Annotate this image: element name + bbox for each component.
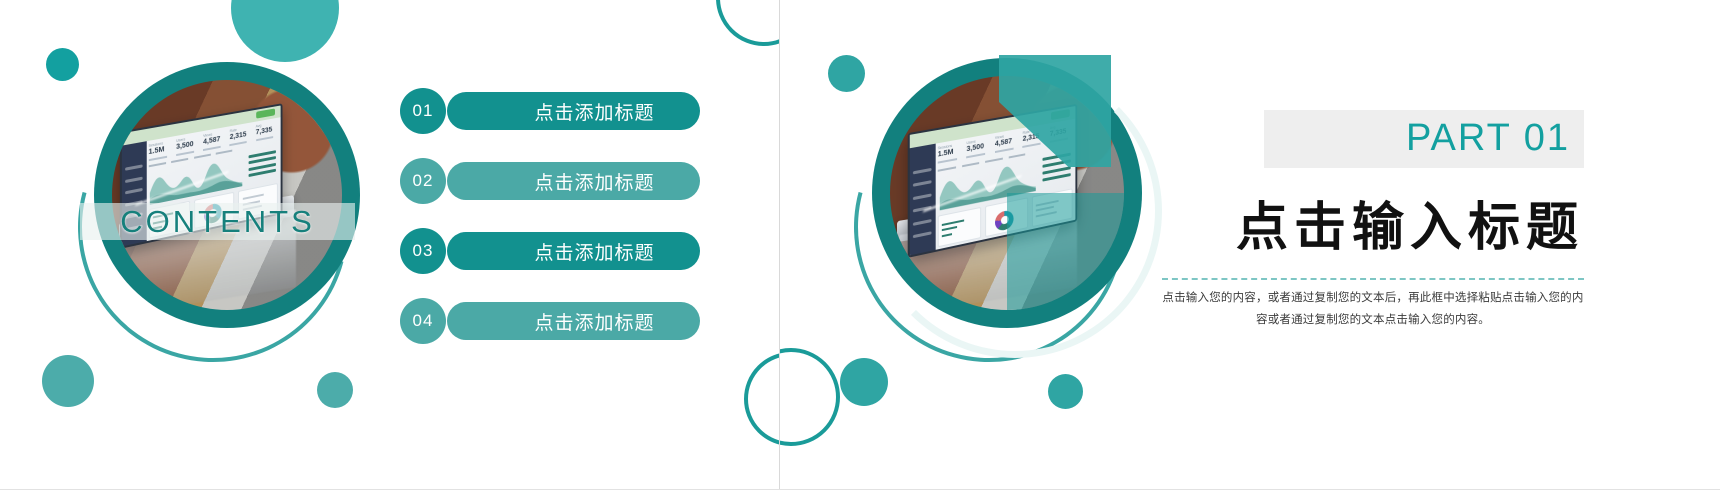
decor-ring-bottom-right: [744, 352, 780, 446]
decor-halo-arc: [868, 64, 1162, 358]
contents-menu: 点击添加标题 01 点击添加标题 02 点击添加标题 03 点击添加标题: [400, 88, 700, 368]
menu-bar-03[interactable]: 点击添加标题: [447, 232, 700, 270]
menu-bar-02[interactable]: 点击添加标题: [447, 162, 700, 200]
decor-dot-upper-left: [46, 48, 79, 81]
part-title: 点击输入标题: [1164, 185, 1584, 260]
menu-item-04[interactable]: 点击添加标题 04: [400, 298, 700, 344]
menu-number-01[interactable]: 01: [400, 88, 446, 134]
menu-label-02: 点击添加标题: [492, 168, 654, 195]
decor-dot-upper: [828, 55, 865, 92]
menu-bar-04[interactable]: 点击添加标题: [447, 302, 700, 340]
decor-dot-lower-mid: [317, 372, 353, 408]
menu-number-03[interactable]: 03: [400, 228, 446, 274]
part-badge: PART 01: [1264, 110, 1584, 168]
menu-item-03[interactable]: 点击添加标题 03: [400, 228, 700, 274]
menu-label-03: 点击添加标题: [492, 238, 654, 265]
menu-number-02[interactable]: 02: [400, 158, 446, 204]
slide-contents: Sessions1.5M Users3,500 Views4,587 Rate2…: [0, 0, 780, 490]
decor-dot-top: [231, 0, 339, 62]
contents-title: CONTENTS: [120, 204, 315, 240]
slide-divider: [779, 0, 780, 490]
decor-dot-lower-left: [42, 355, 94, 407]
title-dashed-rule: [1162, 278, 1584, 280]
contents-photo: Sessions1.5M Users3,500 Views4,587 Rate2…: [112, 80, 342, 310]
slide-deck: Sessions1.5M Users3,500 Views4,587 Rate2…: [0, 0, 1720, 490]
slide-part-01: Sessions1.5M Users3,500 Views4,587 Rate2…: [780, 0, 1720, 490]
part-label: PART 01: [1406, 117, 1584, 162]
menu-label-04: 点击添加标题: [492, 308, 654, 335]
menu-item-01[interactable]: 点击添加标题 01: [400, 88, 700, 134]
decor-dot-bottom-mid: [1048, 374, 1083, 409]
decor-ring-top-right: [716, 0, 780, 46]
decor-ring-left-bottom: [780, 348, 840, 446]
decor-dot-bottom-left: [840, 358, 888, 406]
part-body: 点击输入您的内容，或者通过复制您的文本后，再此框中选择粘贴点击输入您的内容或者通…: [1162, 288, 1584, 332]
contents-band: CONTENTS: [80, 203, 355, 240]
menu-bar-01[interactable]: 点击添加标题: [447, 92, 700, 130]
menu-label-01: 点击添加标题: [492, 98, 654, 125]
menu-number-04[interactable]: 04: [400, 298, 446, 344]
dashboard-legend: [249, 147, 276, 185]
menu-item-02[interactable]: 点击添加标题 02: [400, 158, 700, 204]
